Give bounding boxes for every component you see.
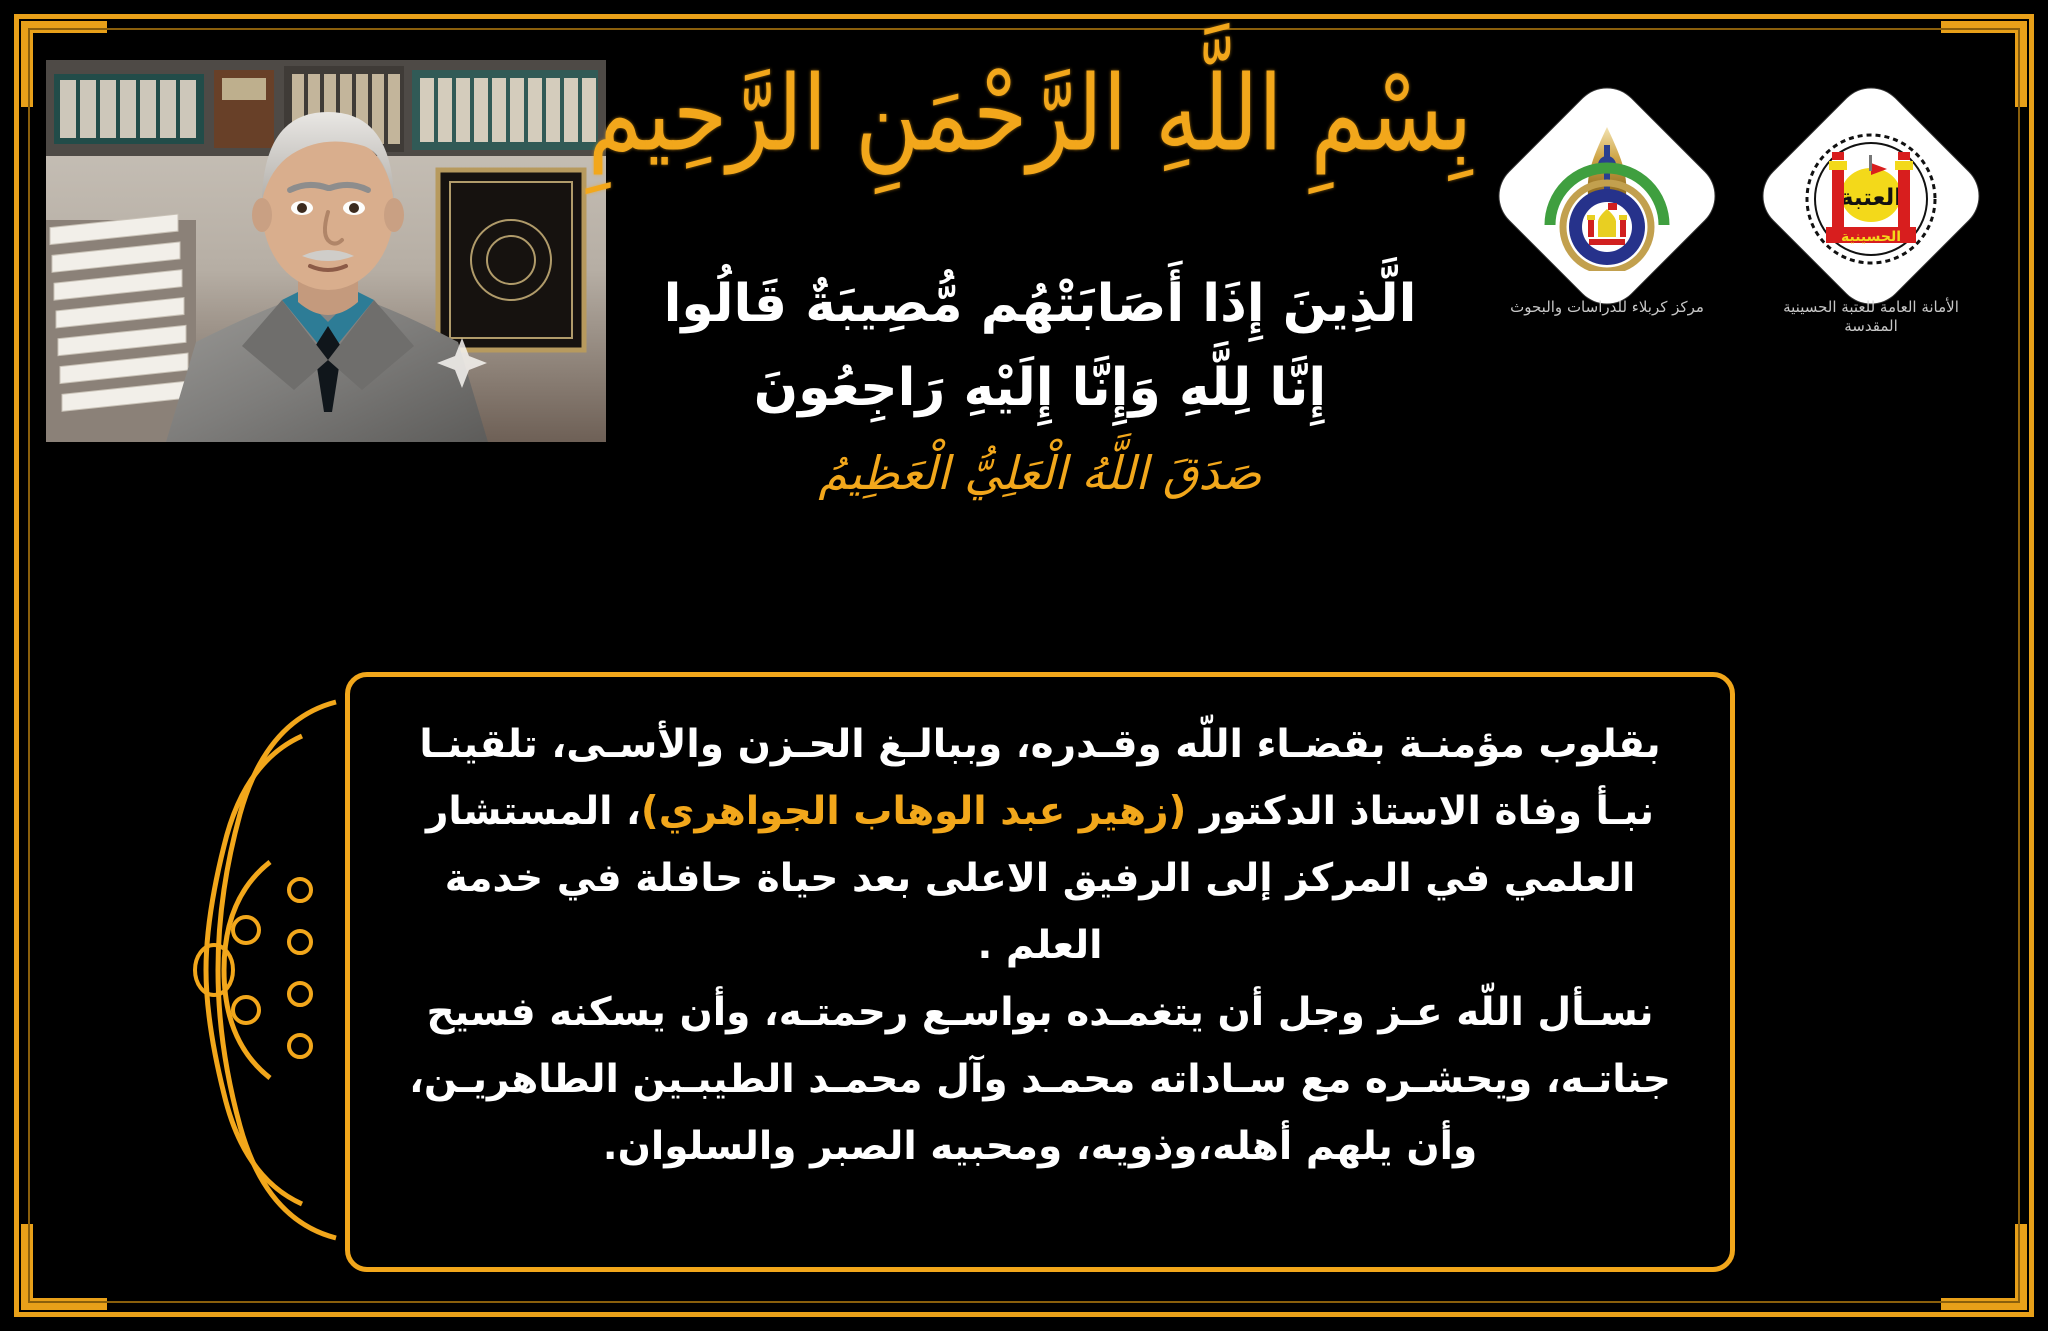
quranic-verse-block: الَّذِينَ إِذَا أَصَابَتْهُم مُّصِيبَةٌ … bbox=[440, 262, 1640, 518]
condolence-message-text: بقلوب مؤمنـة بقضـاء اللّه وقـدره، وببالـ… bbox=[350, 677, 1730, 1267]
condolence-message-box: بقلوب مؤمنـة بقضـاء اللّه وقـدره، وببالـ… bbox=[345, 672, 1735, 1272]
svg-text:الحسينية: الحسينية bbox=[1841, 229, 1901, 245]
message-paragraph-1: بقلوب مؤمنـة بقضـاء اللّه وقـدره، وببالـ… bbox=[394, 711, 1686, 979]
corner-ornament-bottom-right bbox=[1941, 1224, 2027, 1310]
basmala-text: بِسْمِ اللَّهِ الرَّحْمَنِ الرَّحِيمِ bbox=[588, 39, 1472, 190]
hussaini-shrine-diamond: العتبة الحسينية bbox=[1749, 74, 1992, 317]
hussaini-shrine-emblem-icon: العتبة الحسينية bbox=[1796, 121, 1946, 271]
hussaini-shrine-caption: الأمانة العامة للعتبة الحسينية المقدسة bbox=[1764, 298, 1979, 336]
corner-ornament-bottom-left bbox=[21, 1224, 107, 1310]
svg-text:العتبة: العتبة bbox=[1840, 185, 1902, 211]
message-p1-title: الاستاذ الدكتور bbox=[1186, 789, 1481, 834]
verse-line-1: الَّذِينَ إِذَا أَصَابَتْهُم مُّصِيبَةٌ … bbox=[440, 262, 1640, 346]
corner-ornament-top-right bbox=[1941, 21, 2027, 107]
basmala-calligraphy: بِسْمِ اللَّهِ الرَّحْمَنِ الرَّحِيمِ bbox=[660, 24, 1400, 204]
deceased-name: (زهير عبد الوهاب الجواهري) bbox=[641, 789, 1186, 834]
karbala-center-emblem-icon bbox=[1532, 121, 1682, 271]
obituary-poster: بِسْمِ اللَّهِ الرَّحْمَنِ الرَّحِيمِ bbox=[0, 0, 2048, 1331]
message-paragraph-2: نسـأل اللّه عـز وجل أن يتغمـده بواسـع رح… bbox=[394, 979, 1686, 1180]
logo-hussaini-shrine[interactable]: العتبة الحسينية bbox=[1756, 110, 1986, 336]
verse-line-2: إِنَّا لِلَّهِ وَإِنَّا إِلَيْهِ رَاجِعُ… bbox=[440, 346, 1640, 430]
verse-attestation: صَدَقَ اللَّهُ الْعَلِيُّ الْعَظِيمُ bbox=[440, 430, 1640, 517]
